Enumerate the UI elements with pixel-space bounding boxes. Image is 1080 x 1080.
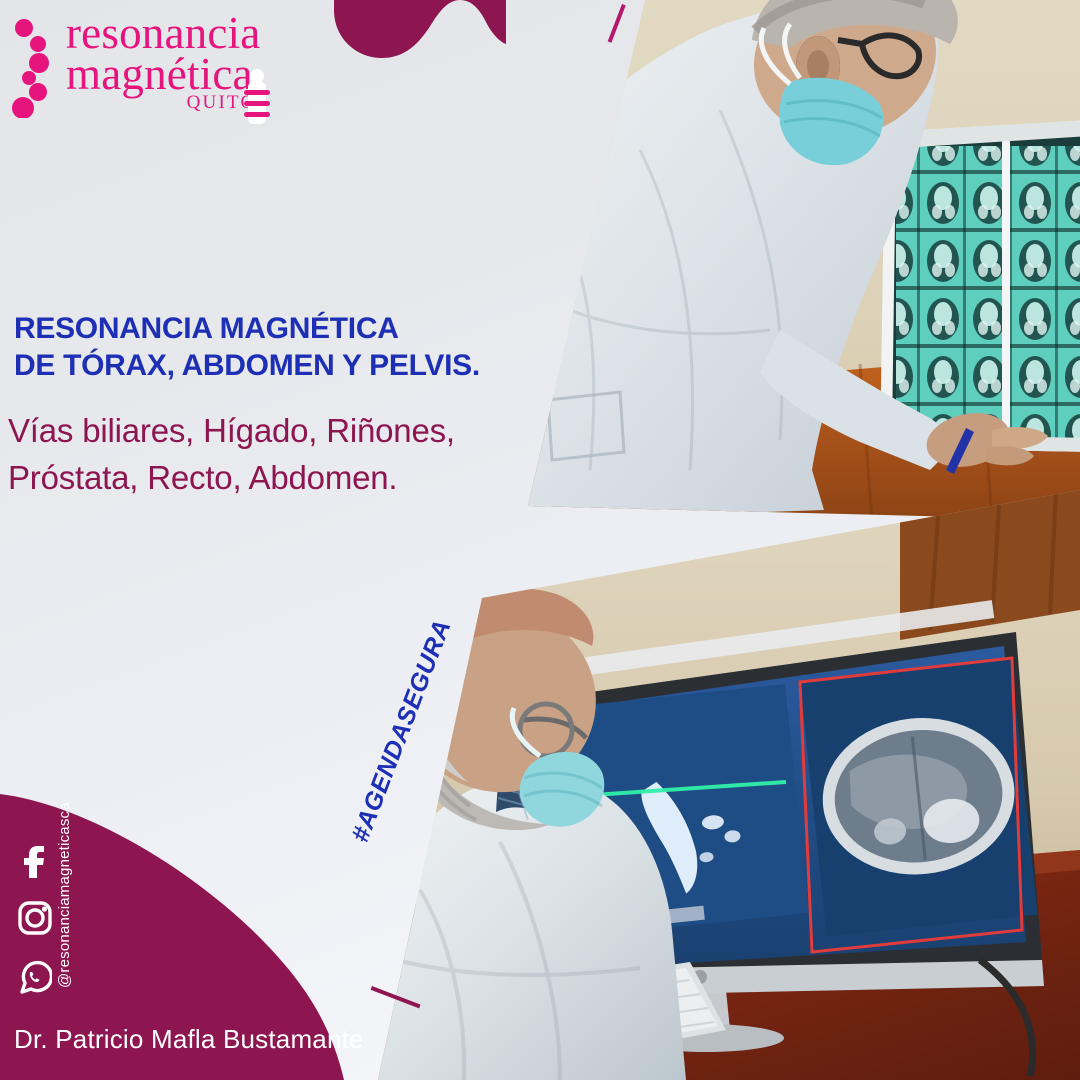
doctor-name: Dr. Patricio Mafla Bustamante — [14, 1024, 364, 1055]
flyer-canvas: resonancia magnética QUITO RESONANCIA MA… — [0, 0, 1080, 1080]
photo-doctor-lightbox — [0, 0, 1080, 520]
social-handle[interactable]: @resonanciamagneticasca — [56, 802, 73, 988]
